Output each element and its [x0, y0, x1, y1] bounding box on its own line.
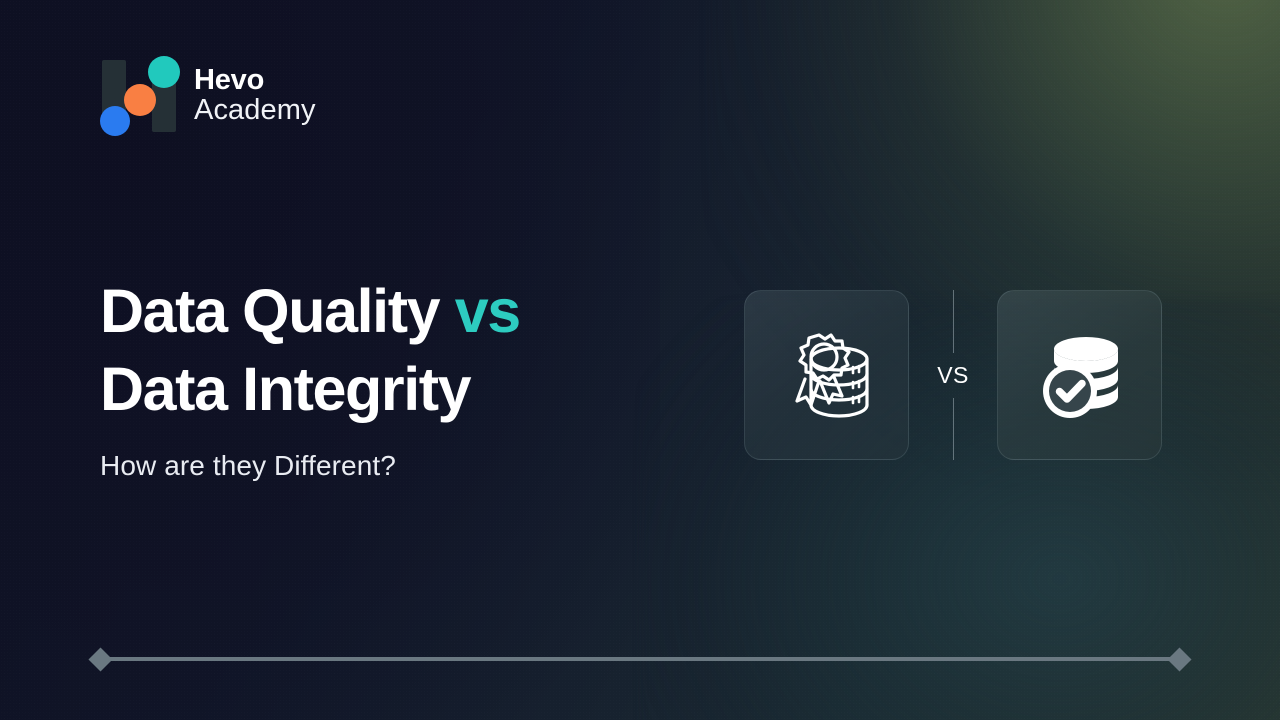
slide-canvas: Hevo Academy Data Quality vs Data Integr… [0, 0, 1280, 720]
versus-label: VS [937, 362, 968, 389]
data-integrity-card[interactable] [997, 290, 1162, 460]
divider-line-top [953, 290, 954, 353]
logo-dot-orange [124, 84, 156, 116]
brand-logo[interactable]: Hevo Academy [100, 56, 316, 134]
database-award-badge-icon [773, 321, 881, 429]
headline-line-2: Data Integrity [100, 350, 520, 428]
diamond-left-icon [88, 647, 112, 671]
comparison-group: VS [744, 290, 1162, 460]
brand-name-top: Hevo [194, 65, 316, 95]
versus-divider: VS [909, 290, 997, 460]
bottom-decorative-rule [92, 650, 1188, 668]
brand-wordmark: Hevo Academy [194, 65, 316, 125]
headline-main-text: Data Quality [100, 277, 455, 345]
data-quality-card[interactable] [744, 290, 909, 460]
hero-subtitle: How are they Different? [100, 450, 520, 482]
headline-line-1: Data Quality vs [100, 272, 520, 350]
hero-text-block: Data Quality vs Data Integrity How are t… [100, 272, 520, 482]
hevo-bars-dots-logo-icon [100, 56, 176, 134]
logo-dot-blue [100, 106, 130, 136]
database-check-circle-icon [1026, 321, 1134, 429]
logo-dot-teal [148, 56, 180, 88]
headline-accent-text: vs [455, 277, 520, 345]
diamond-right-icon [1167, 647, 1191, 671]
rule-line [107, 657, 1173, 661]
divider-line-bottom [953, 398, 954, 461]
brand-name-bottom: Academy [194, 95, 316, 125]
